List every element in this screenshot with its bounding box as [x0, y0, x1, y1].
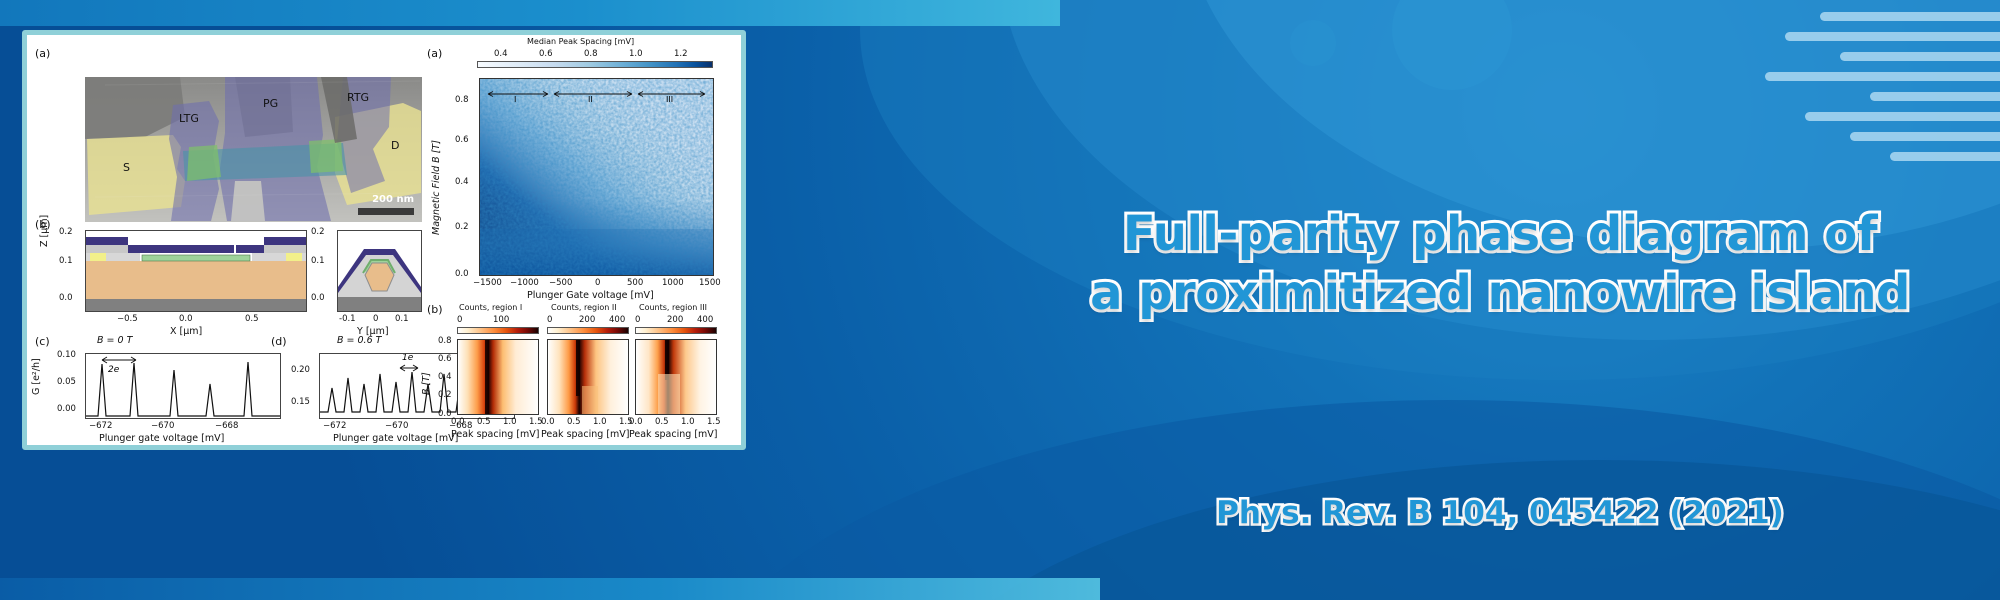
region-markers: I II III — [486, 89, 707, 103]
xtick: 0 — [373, 314, 378, 324]
decorative-circle — [1290, 20, 1336, 66]
cbtick: 0.8 — [584, 49, 598, 59]
region-arrows — [486, 90, 707, 104]
cbtick: 400 — [609, 315, 625, 325]
histogram-graphic-ii — [548, 340, 628, 414]
xtick: 0.5 — [245, 314, 259, 324]
sem-label-s: S — [123, 161, 130, 174]
panel-label-b-right: (b) — [427, 303, 443, 316]
phase-diagram-heatmap: I II III — [479, 78, 714, 276]
xtick: −1000 — [510, 278, 539, 288]
ytick: 0.0 — [455, 269, 469, 279]
panel-label-a-left: (a) — [35, 47, 50, 60]
ytick: 0.10 — [57, 350, 76, 360]
peak-spacing-histogram-region-i — [457, 339, 539, 415]
conductance-trace-b0 — [86, 354, 280, 418]
counts-title-region-iii: Counts, region III — [639, 303, 707, 312]
colorbar-counts-region-iii — [635, 327, 717, 334]
ytick: 0.4 — [438, 372, 452, 382]
xtick: 1.0 — [681, 417, 695, 427]
ytick: 0.0 — [59, 293, 73, 303]
ytick: 0.2 — [438, 390, 452, 400]
xtick: −672 — [323, 421, 346, 431]
sem-label-d: D — [391, 139, 399, 152]
colorbar-title-median-peak-spacing: Median Peak Spacing [mV] — [527, 37, 634, 46]
cbtick: 100 — [493, 315, 509, 325]
ytick: 0.2 — [455, 222, 469, 232]
panel-label-d: (d) — [271, 335, 287, 348]
ytick: 0.0 — [311, 293, 325, 303]
xtick: 0 — [595, 278, 600, 288]
sem-label-ltg: LTG — [179, 112, 199, 125]
colorbar-counts-region-ii — [547, 327, 629, 334]
sem-label-rtg: RTG — [347, 91, 369, 104]
panel-d-annotation: 1e — [402, 353, 413, 363]
sem-scalebar — [358, 208, 414, 215]
xtick: 1.5 — [707, 417, 721, 427]
xtick: −0.5 — [117, 314, 138, 324]
histogram-xlabel: Peak spacing [mV] — [629, 429, 717, 440]
ytick: 0.15 — [291, 397, 310, 407]
cbtick: 0.4 — [494, 49, 508, 59]
cross-section-x-xlabel: X [μm] — [170, 326, 202, 337]
conductance-ylabel: G [e²/h] — [31, 358, 42, 395]
histogram-graphic-iii — [636, 340, 716, 414]
bottom-accent-bar — [0, 578, 1100, 600]
title-line-1: Full-parity phase diagram of — [1030, 205, 1970, 264]
xtick: 1000 — [662, 278, 684, 288]
sem-label-pg: PG — [263, 97, 278, 110]
cbtick: 400 — [697, 315, 713, 325]
cbtick: 0 — [457, 315, 462, 325]
histogram-xlabel: Peak spacing [mV] — [541, 429, 629, 440]
cbtick: 0.6 — [539, 49, 553, 59]
peak-spacing-histogram-region-iii — [635, 339, 717, 415]
xtick: −668 — [215, 421, 238, 431]
ytick: 0.05 — [57, 377, 76, 387]
panel-label-a-right: (a) — [427, 47, 442, 60]
xtick: 0.0 — [451, 417, 465, 427]
region-label-i: I — [514, 95, 516, 104]
xtick: 0.0 — [179, 314, 193, 324]
xtick: −670 — [385, 421, 408, 431]
xtick: 0.5 — [567, 417, 581, 427]
ytick: 0.8 — [455, 95, 469, 105]
histogram-xlabel: Peak spacing [mV] — [451, 429, 539, 440]
xtick: −670 — [151, 421, 174, 431]
region-label-iii: III — [666, 95, 673, 104]
decorative-stripes — [1700, 0, 2000, 230]
cbtick: 1.2 — [674, 49, 688, 59]
sem-micrograph: LTG PG RTG S D 200 nm — [85, 77, 422, 222]
xtick: 0.1 — [395, 314, 409, 324]
colorbar-blues — [477, 61, 713, 68]
xtick: 0.0 — [629, 417, 643, 427]
xtick: 0.5 — [655, 417, 669, 427]
cross-section-y-plot — [337, 230, 422, 312]
figure-card: (a) — [22, 30, 746, 450]
heatmap-ylabel: Magnetic Field B [T] — [431, 140, 442, 235]
cbtick: 200 — [579, 315, 595, 325]
xtick: −1500 — [473, 278, 502, 288]
ytick: 0.1 — [59, 256, 73, 266]
xtick: 1500 — [699, 278, 721, 288]
region-label-ii: II — [588, 95, 593, 104]
figure-canvas: (a) — [27, 35, 741, 445]
ytick: 0.2 — [311, 227, 325, 237]
ytick: 0.6 — [455, 135, 469, 145]
ytick: 0.8 — [438, 336, 452, 346]
conductance-plot-b0: 2e — [85, 353, 281, 419]
xtick: 1.0 — [503, 417, 517, 427]
histogram-ylabel: B [T] — [421, 372, 432, 395]
ytick: 0.0 — [438, 409, 452, 419]
heatmap-graphic — [480, 79, 713, 275]
counts-title-region-i: Counts, region I — [459, 303, 522, 312]
panel-d-xlabel: Plunger gate voltage [mV] — [333, 433, 458, 444]
cross-section-y-graphic — [338, 231, 421, 311]
heatmap-xlabel: Plunger Gate voltage [mV] — [527, 290, 654, 301]
colorbar-counts-region-i — [457, 327, 539, 334]
ytick: 0.1 — [311, 256, 325, 266]
title-line-2: a proximitized nanowire island — [1030, 264, 1970, 323]
xtick: -0.1 — [339, 314, 356, 324]
panel-c-annotation: 2e — [108, 365, 119, 375]
ytick: 0.2 — [59, 227, 73, 237]
cbtick: 200 — [667, 315, 683, 325]
panel-c-title: B = 0 T — [97, 335, 132, 346]
ytick: 0.6 — [438, 354, 452, 364]
headline-block: Full-parity phase diagram of a proximiti… — [1030, 205, 1970, 322]
top-accent-bar — [0, 0, 1060, 26]
panel-d-title: B = 0.6 T — [337, 335, 381, 346]
panel-c-xlabel: Plunger gate voltage [mV] — [99, 433, 224, 444]
cbtick: 0 — [547, 315, 552, 325]
sem-scalebar-label: 200 nm — [372, 194, 414, 205]
histogram-graphic-i — [458, 340, 538, 414]
xtick: 500 — [627, 278, 643, 288]
panel-label-c: (c) — [35, 335, 50, 348]
cbtick: 0 — [635, 315, 640, 325]
xtick: 0.5 — [477, 417, 491, 427]
ytick: 0.20 — [291, 365, 310, 375]
cross-section-x-plot — [85, 230, 307, 312]
xtick: −500 — [549, 278, 572, 288]
cross-section-x-ylabel: Z [μm] — [39, 215, 50, 247]
xtick: 1.0 — [593, 417, 607, 427]
xtick: −672 — [89, 421, 112, 431]
ytick: 0.00 — [57, 404, 76, 414]
xtick: 0.0 — [541, 417, 555, 427]
cbtick: 1.0 — [629, 49, 643, 59]
peak-spacing-histogram-region-ii — [547, 339, 629, 415]
cross-section-x-graphic — [86, 231, 306, 311]
counts-title-region-ii: Counts, region II — [551, 303, 617, 312]
citation-text: Phys. Rev. B 104, 045422 (2021) — [1030, 495, 1970, 531]
ytick: 0.4 — [455, 177, 469, 187]
